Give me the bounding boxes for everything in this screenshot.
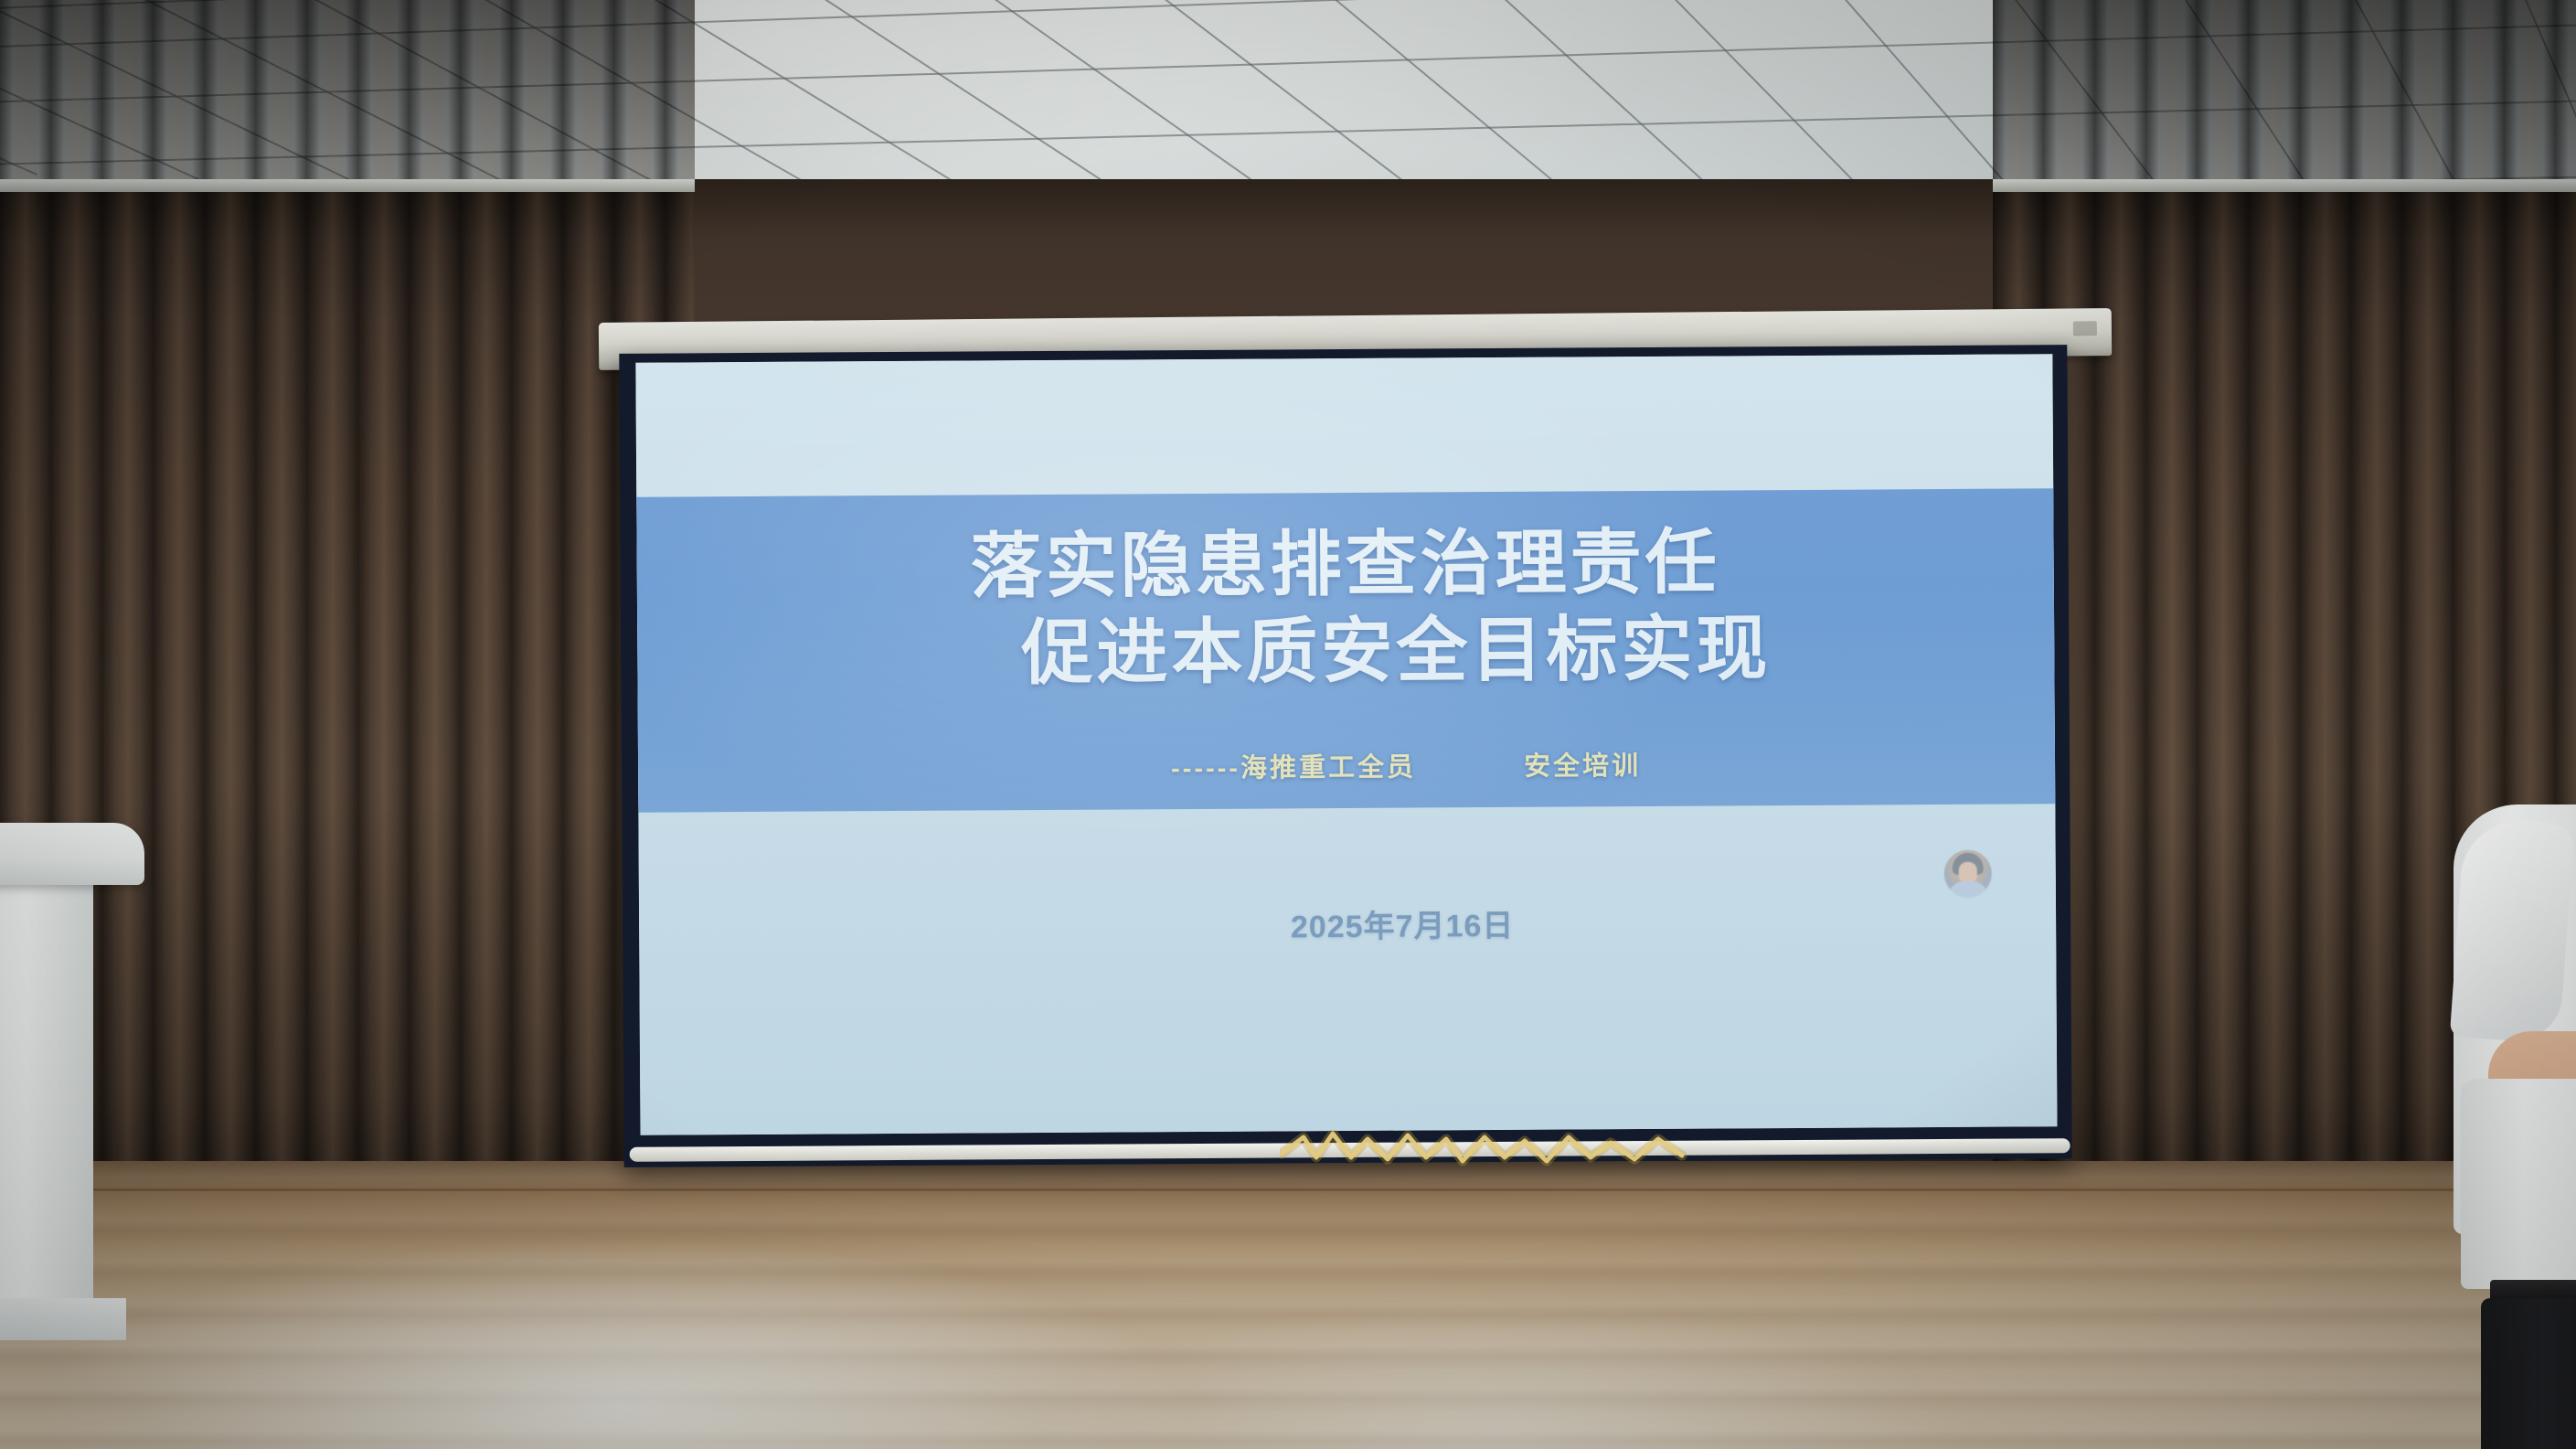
- curtain-rail-right: [1993, 179, 2576, 192]
- slide-subtitle-topic: 安全培训: [1524, 751, 1641, 782]
- housing-endcap: [2073, 321, 2097, 336]
- presentation-slide: 落实隐患排查治理责任 促进本质安全目标实现 ------海推重工全员安全培训 2…: [635, 354, 2057, 1135]
- attendee-trousers: [2481, 1298, 2576, 1449]
- slide-date: 2025年7月16日: [639, 897, 2056, 950]
- slide-subtitle-org: 海推重工全员: [1240, 753, 1416, 783]
- slide-title-line2: 促进本质安全目标实现: [637, 603, 2055, 699]
- curtain-rail-left: [0, 179, 695, 192]
- slide-subtitle-spacer: [1416, 775, 1524, 776]
- lectern-body: [0, 879, 93, 1309]
- wood-laminate-floor: [0, 1161, 2576, 1449]
- presenter-avatar: [1944, 850, 1992, 898]
- attendee-shirt-lower: [2461, 1079, 2576, 1289]
- slide-subtitle-dashes: ------: [1052, 754, 1240, 784]
- lectern-base: [0, 1298, 126, 1340]
- slide-title: 落实隐患排查治理责任 促进本质安全目标实现: [636, 517, 2054, 699]
- slide-title-line1: 落实隐患排查治理责任: [970, 521, 1720, 606]
- avatar-body: [1948, 881, 1988, 898]
- projection-screen-surface: 落实隐患排查治理责任 促进本质安全目标实现 ------海推重工全员安全培训 2…: [635, 354, 2057, 1135]
- standing-attendee: [2421, 804, 2576, 1449]
- floor-reflection-sheen: [0, 1161, 2576, 1449]
- screen-weight-bar: [630, 1138, 2070, 1162]
- lectern-top-surface: [0, 823, 144, 885]
- conference-room-scene: 落实隐患排查治理责任 促进本质安全目标实现 ------海推重工全员安全培训 2…: [0, 0, 2576, 1449]
- attendee-sleeve: [2450, 817, 2574, 1044]
- projection-screen: 落实隐患排查治理责任 促进本质安全目标实现 ------海推重工全员安全培训 2…: [619, 345, 2071, 1167]
- white-lectern: [0, 823, 152, 1335]
